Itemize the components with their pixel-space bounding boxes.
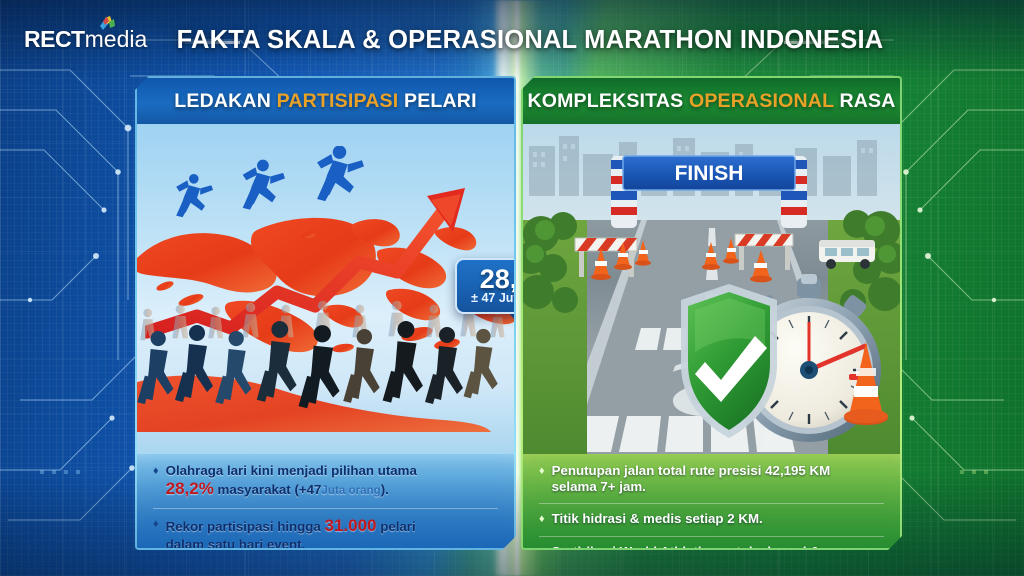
page-title: FAKTA SKALA & OPERASIONAL MARATHON INDON… [150, 20, 910, 60]
logo-wordmark: RECTmedia [24, 26, 147, 53]
bullet-separator [539, 503, 884, 504]
badge-subtext: ± 47 Juta Orang [471, 291, 514, 306]
bullet-line-1: Olahraga lari kini menjadi pilihan utama [166, 463, 417, 478]
panel-right-header: KOMPLEKSITAS OPERASIONAL RASA [523, 78, 900, 124]
bullet-paren-small: Juta orang [321, 484, 380, 497]
bullet-stat: 31.000 [325, 516, 377, 535]
three-blue-running-figures [173, 146, 403, 226]
bullet-line-2a: masyarakat [218, 482, 291, 497]
panel-right-bullets: ♦ Penutupan jalan total rute presisi 42,… [523, 454, 900, 548]
bullet-text: Olahraga lari kini menjadi pilihan utama… [166, 463, 417, 500]
list-item: ♦ Olahraga lari kini menjadi pilihan uta… [153, 463, 498, 500]
logo-text-bold: RECT [24, 26, 85, 52]
bullet-diamond-icon: ♦ [539, 544, 545, 550]
bullet-separator [539, 536, 884, 537]
panel-left-artwork: 28,2% ± 47 Juta Orang [137, 124, 514, 454]
panel-ledakan-partisipasi: LEDAKAN PARTISIPASI PELARI [135, 76, 516, 550]
bullet-line-2: dalam satu hari event. [166, 537, 306, 550]
traffic-cone [591, 248, 611, 280]
bullet-diamond-icon: ♦ [539, 511, 545, 527]
traffic-cone-foreground [839, 338, 893, 434]
heading-highlight: PARTISIPASI [277, 90, 399, 112]
list-item: ♦ Sertirikasi World Athletics untuk akur… [539, 544, 884, 550]
badge-value: 28,2% [480, 267, 514, 291]
finish-line-arch: FINISH [609, 150, 809, 228]
bullet-text: Penutupan jalan total rute presisi 42,19… [552, 463, 831, 495]
heading-part2: PELARI [404, 90, 477, 112]
panel-right-heading: KOMPLEKSITAS OPERASIONAL RASA [527, 90, 895, 113]
panel-left-heading: LEDAKAN PARTISIPASI PELARI [174, 90, 476, 113]
heading-highlight: OPERASIONAL [689, 90, 834, 112]
list-item: ♦ Titik hidrasi & medis setiap 2 KM. [539, 511, 884, 527]
bullet-line-2: selama 7+ jam. [552, 479, 646, 494]
bullet-separator [153, 508, 498, 509]
panel-right-artwork: FINISH [523, 124, 900, 454]
bullet-stat: 28,2% [166, 479, 214, 498]
panel-left-header: LEDAKAN PARTISIPASI PELARI [137, 78, 514, 124]
bullet-paren-close: ). [381, 482, 389, 497]
heading-part1: KOMPLEKSITAS [527, 90, 683, 112]
header-bar: RECTmedia FAKTA SKALA & OPERASIONAL MARA… [0, 0, 1024, 72]
heading-part1: LEDAKAN [174, 90, 271, 112]
bullet-text: Sertirikasi World Athletics untuk akuras… [552, 544, 884, 550]
traffic-cone [702, 242, 720, 270]
heading-part2: RASA [839, 90, 895, 112]
panel-left-bullets: ♦ Olahraga lari kini menjadi pilihan uta… [137, 454, 514, 548]
bullet-diamond-icon: ♦ [153, 463, 159, 500]
panel-kompleksitas-operasional: KOMPLEKSITAS OPERASIONAL RASA [521, 76, 902, 550]
svg-text:FINISH: FINISH [675, 162, 744, 185]
bullet-diamond-icon: ♦ [153, 516, 159, 550]
infographic-canvas: RECTmedia FAKTA SKALA & OPERASIONAL MARA… [0, 0, 1024, 576]
list-item: ♦ Rekor partisipasi hingga 31.000 pelari… [153, 516, 498, 550]
bullet-line-1: Penutupan jalan total rute presisi 42,19… [552, 463, 831, 478]
bullet-text: Titik hidrasi & medis setiap 2 KM. [552, 511, 763, 527]
bullet-pre: Rekor partisipasi hingga [166, 519, 321, 534]
bullet-diamond-icon: ♦ [539, 463, 545, 495]
list-item: ♦ Penutupan jalan total rute presisi 42,… [539, 463, 884, 495]
bullet-post: pelari [380, 519, 415, 534]
stat-badge-participation: 28,2% ± 47 Juta Orang [455, 258, 514, 314]
colored-squares-mark-icon [98, 15, 116, 31]
bullet-paren-open: (+47 [294, 482, 321, 497]
brand-logo[interactable]: RECTmedia [24, 24, 147, 54]
bullet-text: Rekor partisipasi hingga 31.000 pelari d… [166, 516, 416, 550]
